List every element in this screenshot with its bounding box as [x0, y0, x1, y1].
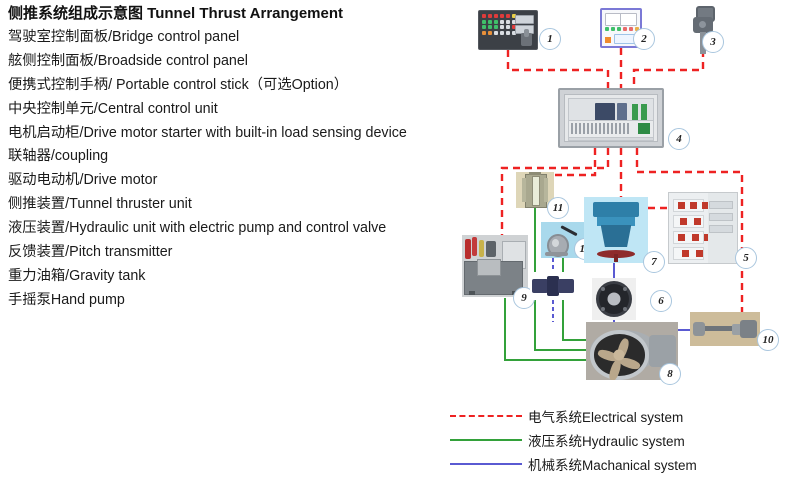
drive-motor-starter-image[interactable] [668, 192, 738, 264]
pump-base [545, 252, 568, 256]
diagram-root: 侧推系统组成示意图 Tunnel Thrust Arrangement 驾驶室控… [0, 0, 788, 490]
thruster-unit-top-housing [593, 202, 639, 217]
broadside-alarm-button [605, 37, 611, 43]
green-terminal-block [638, 123, 650, 134]
drive-motor-image[interactable] [592, 278, 636, 320]
electrical-line-label: 电气系统Electrical system [528, 406, 683, 426]
broadside-screen-right [620, 13, 637, 26]
hydraulic-electric-pump [486, 241, 497, 257]
coupling-flange-left [532, 279, 548, 292]
key-row-hydraulic: 液压系统Hydraulic system [450, 428, 697, 452]
panel-joystick [521, 33, 532, 46]
badge-2: 2 [633, 28, 655, 50]
central-control-unit-image[interactable] [558, 88, 664, 148]
hydraulic-filter-red-b [472, 237, 477, 256]
hydraulic-filter-yellow [479, 240, 484, 257]
coupling-image[interactable] [530, 272, 576, 300]
panel-keypad [482, 14, 516, 35]
green-module-b [632, 104, 638, 121]
bridge-control-panel-image[interactable] [478, 10, 538, 50]
broadside-indicator-row [605, 27, 639, 31]
cabinet-row-controllers [568, 98, 654, 122]
panel-display-upper [515, 15, 534, 24]
badge-1: 1 [539, 28, 561, 50]
coupling-center [547, 276, 559, 296]
coupling-flange-right [558, 279, 574, 292]
badge-10: 10 [757, 329, 779, 351]
propeller-hub [614, 349, 625, 360]
terminal-strip [571, 123, 631, 134]
transmitter-end-right [740, 320, 757, 338]
badge-6: 6 [650, 290, 672, 312]
hydraulic-filter-red-a [465, 239, 471, 259]
motor-shaft [608, 293, 621, 306]
electrical-line-swatch [450, 415, 522, 417]
cabinet-row-terminals [568, 120, 654, 138]
key-row-mechanical: 机械系统Machanical system [450, 452, 697, 476]
starter-cabinet-left-door [669, 193, 709, 263]
system-type-key: 电气系统Electrical system 液压系统Hydraulic syst… [450, 404, 697, 476]
mechanical-line-swatch [450, 463, 522, 465]
badge-7: 7 [643, 251, 665, 273]
badge-3: 3 [702, 31, 724, 53]
badge-5: 5 [735, 247, 757, 269]
hydraulic-nameplate [477, 259, 501, 276]
cabinet-interior [564, 94, 658, 142]
thruster-unit-midsection [597, 217, 635, 226]
badge-4: 4 [668, 128, 690, 150]
tank-flange-right [544, 178, 548, 201]
mechanical-line-label: 机械系统Machanical system [528, 454, 697, 474]
tunnel-thruster-unit-image[interactable] [584, 197, 648, 263]
green-module-a [641, 104, 647, 121]
thruster-unit-gearcase [601, 225, 632, 247]
thruster-tunnel-opening [590, 330, 650, 380]
transmitter-end-left [693, 322, 706, 337]
key-row-electrical: 电气系统Electrical system [450, 404, 697, 428]
stick-knob [699, 21, 706, 28]
badge-8: 8 [659, 363, 681, 385]
tank-flange-left [522, 178, 526, 201]
tank-sight-glass [532, 176, 540, 205]
hydraulic-line-label: 液压系统Hydraulic system [528, 430, 685, 450]
badge-11: 11 [547, 197, 569, 219]
hydraulic-line-swatch [450, 439, 522, 441]
thruster-unit-shaft [614, 254, 618, 262]
tank-cap [529, 172, 541, 175]
starter-cabinet-right-door [708, 193, 737, 263]
pitch-transmitter-image[interactable] [690, 312, 760, 346]
